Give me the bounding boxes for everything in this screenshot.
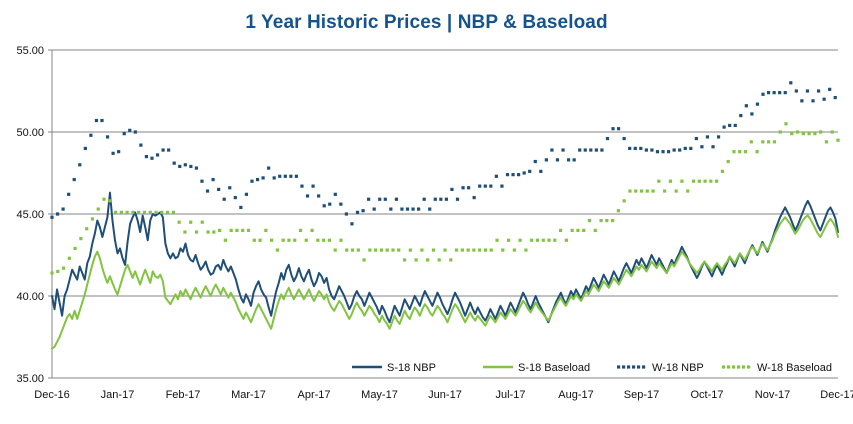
series-dot (461, 248, 464, 251)
y-axis-tick-label: 45.00 (16, 209, 44, 221)
legend-item-w-18-baseload[interactable]: W-18 Baseload (722, 362, 832, 374)
series-dot (230, 229, 233, 232)
series-dot (293, 239, 296, 242)
series-dot (599, 219, 602, 222)
series-dot (606, 137, 609, 140)
x-axis-tick-label: May-17 (361, 389, 398, 401)
series-dot (651, 189, 654, 192)
series-dot (218, 229, 221, 232)
series-dot (673, 148, 676, 151)
series-dot (300, 185, 303, 188)
series-dot (102, 198, 105, 201)
series-dot (351, 248, 354, 251)
series-dot (711, 145, 714, 148)
series-dot (473, 196, 476, 199)
series-dot (784, 91, 787, 94)
series-dot (511, 173, 514, 176)
x-axis-tick-label: Mar-17 (231, 389, 266, 401)
series-dot (241, 229, 244, 232)
legend-swatch (732, 365, 735, 368)
series-dot (646, 189, 649, 192)
series-dot (623, 199, 626, 202)
series-dot (524, 248, 527, 251)
series-dot (428, 207, 431, 210)
series-dot (434, 198, 437, 201)
series-dot (139, 144, 142, 147)
series-dot (500, 185, 503, 188)
series-dot (239, 206, 242, 209)
series-dot (825, 140, 828, 143)
series-dot (667, 150, 670, 153)
series-dot (559, 229, 562, 232)
series-dot (678, 148, 681, 151)
series-dot (276, 248, 279, 251)
series-dot (715, 180, 718, 183)
series-dot (831, 130, 834, 133)
series-dot (582, 229, 585, 232)
series-dot (449, 258, 452, 261)
legend-swatch (627, 365, 630, 368)
series-dot (362, 258, 365, 261)
series-dot (328, 239, 331, 242)
series-dot (145, 155, 148, 158)
series-dot (184, 163, 187, 166)
series-dot (634, 147, 637, 150)
series-dot (400, 207, 403, 210)
series-dot (675, 189, 678, 192)
series-dot (389, 207, 392, 210)
x-axis-tick-label: Jun-17 (428, 389, 462, 401)
series-dot (545, 158, 548, 161)
series-dot (323, 204, 326, 207)
series-dot (250, 180, 253, 183)
series-dot (397, 248, 400, 251)
series-dot (680, 180, 683, 183)
series-dot (456, 198, 459, 201)
series-dot (167, 148, 170, 151)
series-dot (539, 170, 542, 173)
series-dot (74, 247, 77, 250)
series-dot (311, 185, 314, 188)
series-dot (813, 132, 816, 135)
series-dot (561, 148, 564, 151)
series-dot (663, 189, 666, 192)
series-dot (253, 239, 256, 242)
legend-swatch (722, 365, 725, 368)
series-dot (734, 124, 737, 127)
series-dot (295, 175, 298, 178)
series-dot (131, 211, 134, 214)
series-dot (576, 229, 579, 232)
series-dot (495, 175, 498, 178)
series-dot (143, 211, 146, 214)
series-dot (600, 148, 603, 151)
series-dot (411, 207, 414, 210)
series-dot (669, 180, 672, 183)
series-dot (403, 258, 406, 261)
series-dot (178, 165, 181, 168)
series-dot (542, 239, 545, 242)
series-dot (756, 103, 759, 106)
series-dot (356, 211, 359, 214)
series-dot (391, 248, 394, 251)
series-dot (97, 207, 100, 210)
series-dot (650, 148, 653, 151)
series-dot (692, 180, 695, 183)
series-dot (819, 130, 822, 133)
x-axis-tick-label: Jan-17 (101, 389, 135, 401)
series-dot (686, 189, 689, 192)
series-dot (755, 150, 758, 153)
series-dot (156, 153, 159, 156)
series-dot (123, 132, 126, 135)
series-dot (634, 189, 637, 192)
series-dot (270, 239, 273, 242)
series-dot (267, 166, 270, 169)
series-dot (235, 229, 238, 232)
series-dot (200, 180, 203, 183)
series-dot (310, 229, 313, 232)
series-dot (495, 239, 498, 242)
series-dot (212, 230, 215, 233)
chart-plot-area: 35.0040.0045.0050.0055.00 Dec-16Jan-17Fe… (0, 0, 853, 424)
series-dot (154, 211, 157, 214)
series-dot (728, 124, 731, 127)
x-axis-tick-label: Jul-17 (496, 389, 526, 401)
series-dot (750, 140, 753, 143)
series-dot (506, 173, 509, 176)
series-dot (817, 89, 820, 92)
series-dot (684, 147, 687, 150)
legend-swatch (617, 365, 620, 368)
x-axis-tick-label: Sep-17 (624, 389, 659, 401)
series-dot (806, 89, 809, 92)
series-dot (556, 158, 559, 161)
series-dot (789, 81, 792, 84)
series-dot (247, 229, 250, 232)
x-axis-tick-label: Dec-17 (820, 389, 853, 401)
series-dot (173, 162, 176, 165)
series-dot (778, 91, 781, 94)
series-dot (166, 211, 169, 214)
y-axis-tick-label: 55.00 (16, 45, 44, 57)
series-dot (223, 198, 226, 201)
x-axis-tick-label: Feb-17 (166, 389, 201, 401)
series-dot (100, 119, 103, 122)
series-dot (273, 176, 276, 179)
series-dot (316, 239, 319, 242)
series-dot (120, 211, 123, 214)
series-dot (201, 221, 204, 224)
series-dot (717, 135, 720, 138)
series-dot (605, 219, 608, 222)
series-dot (79, 237, 82, 240)
series-dot (161, 148, 164, 151)
series-dot (106, 135, 109, 138)
series-dot (378, 198, 381, 201)
legend-swatch (727, 365, 730, 368)
series-dot (571, 229, 574, 232)
series-dot (420, 248, 423, 251)
x-axis-tick-label: Aug-17 (558, 389, 593, 401)
series-dot (703, 180, 706, 183)
series-dot (89, 134, 92, 137)
chart-container: 1 Year Historic Prices | NBP & Baseload … (0, 0, 853, 424)
series-dot (727, 160, 730, 163)
series-dot (530, 239, 533, 242)
series-w-18-nbp (50, 81, 836, 225)
legend-swatch (622, 365, 625, 368)
series-dot (773, 140, 776, 143)
series-dot (234, 196, 237, 199)
series-dot (589, 148, 592, 151)
series-dot (56, 270, 59, 273)
series-dot (689, 147, 692, 150)
series-dot (739, 114, 742, 117)
series-dot (126, 211, 129, 214)
series-dot (68, 257, 71, 260)
series-dot (117, 150, 120, 153)
series-dot (573, 158, 576, 161)
series-dot (773, 91, 776, 94)
series-dot (507, 239, 510, 242)
series-dot (808, 132, 811, 135)
series-dot (284, 175, 287, 178)
series-dot (306, 194, 309, 197)
series-dot (56, 212, 59, 215)
series-dot (490, 248, 493, 251)
series-dot (361, 209, 364, 212)
legend-swatch (747, 365, 750, 368)
gridlines (52, 50, 838, 378)
series-dot (811, 99, 814, 102)
series-dot (426, 258, 429, 261)
series-dot (112, 152, 115, 155)
x-axis-tick-label: Nov-17 (755, 389, 790, 401)
series-dot (796, 130, 799, 133)
series-dot (828, 88, 831, 91)
series-dot (172, 211, 175, 214)
series-dot (256, 178, 259, 181)
series-dot (640, 189, 643, 192)
series-dot (334, 248, 337, 251)
series-dot (784, 122, 787, 125)
legend-swatch (737, 365, 740, 368)
series-dot (150, 157, 153, 160)
series-dot (700, 145, 703, 148)
series-dot (745, 104, 748, 107)
series-dot (328, 203, 331, 206)
legend-swatch (637, 365, 640, 368)
series-dot (228, 186, 231, 189)
series-dot (802, 132, 805, 135)
y-axis-tick-label: 40.00 (16, 291, 44, 303)
series-dot (721, 170, 724, 173)
series-dot (409, 248, 412, 251)
series-dot (339, 239, 342, 242)
series-dot (611, 219, 614, 222)
series-dot (67, 193, 70, 196)
series-dot (108, 199, 111, 202)
series-dot (95, 119, 98, 122)
series-dot (534, 160, 537, 163)
series-dot (258, 239, 261, 242)
series-dot (305, 239, 308, 242)
series-dot (501, 248, 504, 251)
y-axis-tick-labels: 35.0040.0045.0050.0055.00 (16, 45, 44, 385)
legend-swatch (632, 365, 635, 368)
series-dot (78, 163, 81, 166)
series-dot (744, 150, 747, 153)
series-dot (137, 211, 140, 214)
series-dot (656, 150, 659, 153)
series-dot (761, 93, 764, 96)
series-dot (206, 230, 209, 233)
series-dot (149, 211, 152, 214)
x-axis-tick-label: Apr-17 (297, 389, 330, 401)
series-dot (723, 125, 726, 128)
series-dot (823, 98, 826, 101)
series-dot (750, 112, 753, 115)
series-dot (547, 239, 550, 242)
series-dot (695, 137, 698, 140)
series-dot (628, 147, 631, 150)
series-dot (386, 248, 389, 251)
series-dot (478, 248, 481, 251)
series-dot (578, 148, 581, 151)
series-dot (467, 186, 470, 189)
series-dot (519, 239, 522, 242)
series-dot (395, 198, 398, 201)
series-dot (350, 222, 353, 225)
series-dot (565, 239, 568, 242)
series-dot (438, 258, 441, 261)
series-dot (374, 248, 377, 251)
series-dot (345, 212, 348, 215)
series-dot (62, 267, 65, 270)
series-dot (623, 137, 626, 140)
series-dot (178, 221, 181, 224)
legend-label: S-18 NBP (387, 362, 436, 374)
y-axis-tick-label: 35.00 (16, 373, 44, 385)
series-dot (567, 158, 570, 161)
series-dot (211, 178, 214, 181)
series-dot (339, 203, 342, 206)
series-dot (489, 185, 492, 188)
series-dot (639, 147, 642, 150)
legend-item-s-18-baseload[interactable]: S-18 Baseload (483, 362, 590, 374)
series-dot (406, 207, 409, 210)
series-dot (189, 165, 192, 168)
series-dot (417, 207, 420, 210)
legend-label: W-18 NBP (652, 362, 704, 374)
series-dot (217, 188, 220, 191)
series-dot (114, 211, 117, 214)
series-dot (761, 140, 764, 143)
series-dot (709, 180, 712, 183)
series-dot (367, 198, 370, 201)
series-dot (384, 198, 387, 201)
series-dot (455, 248, 458, 251)
series-dot (50, 216, 53, 219)
series-dot (472, 248, 475, 251)
legend-swatch (742, 365, 745, 368)
x-axis-tick-label: Dec-16 (34, 389, 69, 401)
series-dot (628, 189, 631, 192)
series-dot (461, 186, 464, 189)
series-dot (134, 130, 137, 133)
series-dot (661, 150, 664, 153)
series-dot (445, 198, 448, 201)
series-dot (189, 221, 192, 224)
series-dot (128, 129, 131, 132)
legend-swatch (642, 365, 645, 368)
series-dot (528, 170, 531, 173)
series-dot (536, 239, 539, 242)
series-dot (513, 248, 516, 251)
series-dot (264, 229, 267, 232)
series-dot (423, 198, 426, 201)
series-dot (278, 175, 281, 178)
series-dot (183, 230, 186, 233)
series-dot (160, 211, 163, 214)
series-dot (439, 198, 442, 201)
series-dot (795, 89, 798, 92)
series-dot (584, 148, 587, 151)
series-dot (195, 230, 198, 233)
series-dot (478, 185, 481, 188)
data-series (50, 81, 839, 348)
series-dot (50, 271, 53, 274)
y-axis-tick-label: 50.00 (16, 127, 44, 139)
series-dot (484, 248, 487, 251)
series-dot (443, 248, 446, 251)
series-dot (834, 96, 837, 99)
series-dot (588, 219, 591, 222)
series-dot (836, 139, 839, 142)
series-dot (84, 147, 87, 150)
series-dot (617, 127, 620, 130)
series-dot (594, 229, 597, 232)
series-dot (617, 209, 620, 212)
series-dot (553, 239, 556, 242)
series-dot (432, 248, 435, 251)
series-dot (767, 91, 770, 94)
series-dot (698, 180, 701, 183)
legend-item-s-18-nbp[interactable]: S-18 NBP (352, 362, 436, 374)
series-dot (373, 207, 376, 210)
series-dot (732, 150, 735, 153)
series-dot (73, 178, 76, 181)
series-dot (517, 173, 520, 176)
series-dot (368, 248, 371, 251)
series-dot (790, 132, 793, 135)
series-dot (450, 188, 453, 191)
series-dot (550, 148, 553, 151)
series-dot (287, 239, 290, 242)
series-dot (261, 176, 264, 179)
series-dot (380, 248, 383, 251)
series-dot (657, 180, 660, 183)
x-axis-tick-label: Oct-17 (690, 389, 723, 401)
legend-label: W-18 Baseload (757, 362, 832, 374)
series-dot (91, 217, 94, 220)
series-dot (317, 194, 320, 197)
legend-item-w-18-nbp[interactable]: W-18 NBP (617, 362, 704, 374)
series-dot (484, 185, 487, 188)
series-dot (706, 135, 709, 138)
series-dot (645, 148, 648, 151)
